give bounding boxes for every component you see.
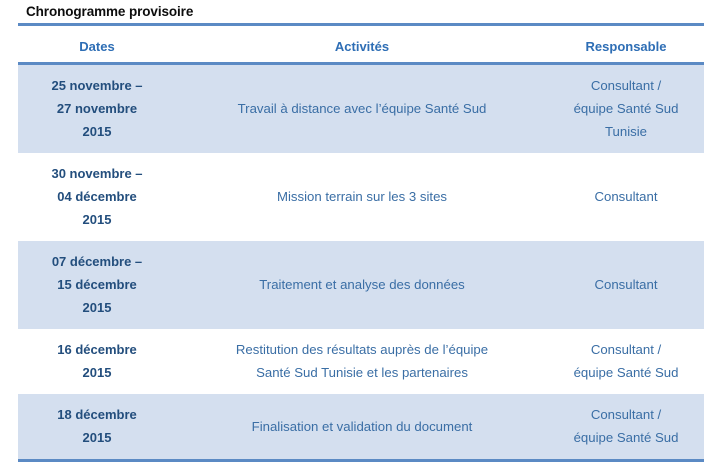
cell-dates-line: 07 décembre – (24, 250, 170, 273)
cell-dates: 16 décembre2015 (18, 329, 176, 394)
cell-responsable-line: Consultant / (554, 338, 698, 361)
cell-dates-line: 15 décembre (24, 273, 170, 296)
cell-activites: Finalisation et validation du document (176, 394, 548, 461)
title-block: Chronogramme provisoire (18, 2, 704, 26)
table-row: 30 novembre –04 décembre2015Mission terr… (18, 153, 704, 241)
cell-dates-line: 16 décembre (24, 338, 170, 361)
cell-responsable: Consultant /équipe Santé Sud (548, 329, 704, 394)
cell-dates-line: 04 décembre (24, 185, 170, 208)
cell-dates: 18 décembre2015 (18, 394, 176, 461)
cell-responsable: Consultant /équipe Santé SudTunisie (548, 64, 704, 154)
table-row: 18 décembre2015Finalisation et validatio… (18, 394, 704, 461)
cell-dates-line: 2015 (24, 361, 170, 384)
cell-dates: 30 novembre –04 décembre2015 (18, 153, 176, 241)
cell-dates-line: 30 novembre – (24, 162, 170, 185)
cell-responsable-line: Consultant / (554, 403, 698, 426)
cell-responsable-line: équipe Santé Sud (554, 361, 698, 384)
cell-responsable: Consultant /équipe Santé Sud (548, 394, 704, 461)
table-row: 07 décembre –15 décembre2015Traitement e… (18, 241, 704, 329)
cell-responsable: Consultant (548, 153, 704, 241)
cell-responsable-line: Consultant / (554, 74, 698, 97)
cell-activites-line: Restitution des résultats auprès de l’éq… (182, 338, 542, 361)
cell-activites-line: Mission terrain sur les 3 sites (182, 185, 542, 208)
table-header: Dates Activités Responsable (18, 36, 704, 64)
cell-dates: 07 décembre –15 décembre2015 (18, 241, 176, 329)
cell-activites: Traitement et analyse des données (176, 241, 548, 329)
cell-dates-line: 2015 (24, 208, 170, 231)
column-header-dates: Dates (18, 36, 176, 64)
cell-responsable: Consultant (548, 241, 704, 329)
cell-dates-line: 27 novembre (24, 97, 170, 120)
cell-dates-line: 25 novembre – (24, 74, 170, 97)
cell-dates-line: 2015 (24, 296, 170, 319)
cell-activites-line: Traitement et analyse des données (182, 273, 542, 296)
table-row: 25 novembre –27 novembre2015Travail à di… (18, 64, 704, 154)
cell-dates: 25 novembre –27 novembre2015 (18, 64, 176, 154)
document-page: Chronogramme provisoire Dates Activités … (0, 0, 719, 449)
chronogram-table: Dates Activités Responsable 25 novembre … (18, 36, 704, 462)
cell-dates-line: 18 décembre (24, 403, 170, 426)
cell-responsable-line: Consultant (554, 273, 698, 296)
cell-responsable-line: équipe Santé Sud (554, 97, 698, 120)
cell-activites-line: Travail à distance avec l’équipe Santé S… (182, 97, 542, 120)
cell-activites-line: Finalisation et validation du document (182, 415, 542, 438)
table-row: 16 décembre2015Restitution des résultats… (18, 329, 704, 394)
cell-activites: Mission terrain sur les 3 sites (176, 153, 548, 241)
cell-activites-line: Santé Sud Tunisie et les partenaires (182, 361, 542, 384)
page-title: Chronogramme provisoire (18, 2, 704, 22)
cell-dates-line: 2015 (24, 426, 170, 449)
chronogram-table-wrapper: Dates Activités Responsable 25 novembre … (18, 36, 704, 462)
table-header-row: Dates Activités Responsable (18, 36, 704, 64)
cell-activites: Travail à distance avec l’équipe Santé S… (176, 64, 548, 154)
table-body: 25 novembre –27 novembre2015Travail à di… (18, 64, 704, 461)
title-underline-rule (18, 23, 704, 26)
cell-responsable-line: équipe Santé Sud (554, 426, 698, 449)
column-header-responsable: Responsable (548, 36, 704, 64)
cell-dates-line: 2015 (24, 120, 170, 143)
cell-activites: Restitution des résultats auprès de l’éq… (176, 329, 548, 394)
column-header-activites: Activités (176, 36, 548, 64)
cell-responsable-line: Consultant (554, 185, 698, 208)
cell-responsable-line: Tunisie (554, 120, 698, 143)
